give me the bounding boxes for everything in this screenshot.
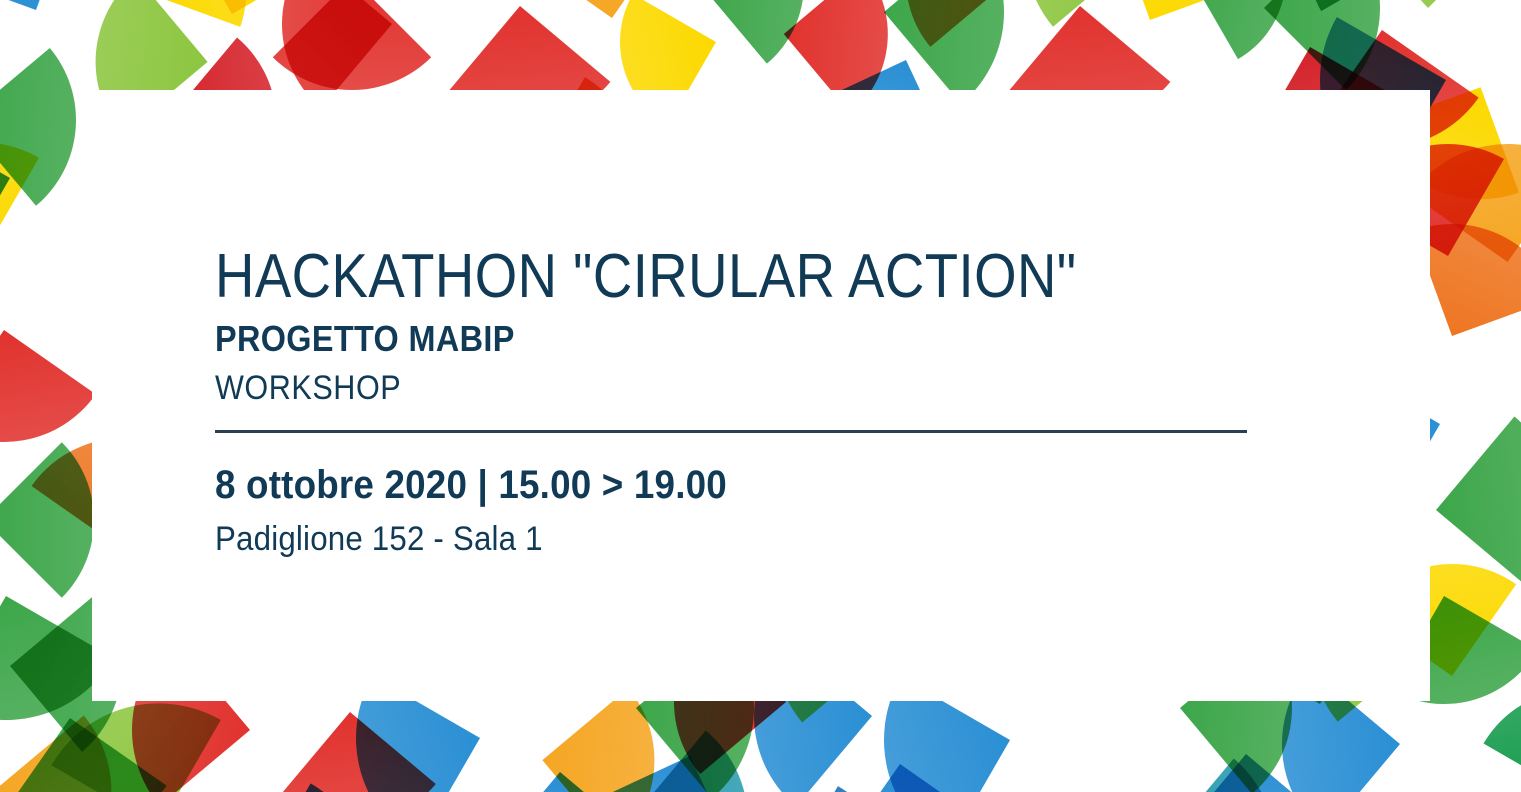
ribbon-motif [491, 772, 726, 792]
ribbon-petal [840, 764, 985, 792]
ribbon-petal [0, 0, 72, 10]
ribbon-motif [2, 718, 263, 792]
ribbon-petal [976, 0, 1145, 27]
text-block: HACKATHON "CIRULAR ACTION" PROGETTO MABI… [215, 245, 1350, 558]
ribbon-petal [542, 688, 700, 792]
ribbon-motif [435, 0, 674, 18]
ribbon-petal [599, 756, 732, 792]
ribbon-petal [173, 0, 334, 14]
ribbon-petal [863, 0, 1010, 47]
ribbon-petal [150, 0, 273, 27]
ribbon-petal [1273, 0, 1404, 11]
ribbon-petal [364, 784, 522, 792]
ribbon-petal [524, 0, 674, 18]
ribbon-motif [0, 0, 72, 10]
ribbon-motif [1190, 0, 1404, 59]
ribbon-motif [1264, 0, 1510, 90]
ribbon-petal [2, 718, 166, 792]
ribbon-petal [775, 786, 947, 792]
ribbon-petal [1190, 0, 1321, 59]
ribbon-motif [0, 40, 39, 260]
ribbon-petal [0, 715, 160, 792]
project-subtitle: PROGETTO MABIP [215, 318, 1237, 360]
content-card: HACKATHON "CIRULAR ACTION" PROGETTO MABI… [92, 90, 1430, 701]
ribbon-motif [1075, 0, 1254, 20]
ribbon-petal [1112, 0, 1253, 20]
ribbon-petal [700, 0, 847, 64]
ribbon-motif [278, 712, 522, 792]
ribbon-petal [0, 330, 96, 486]
ribbon-petal [1514, 323, 1521, 495]
ribbon-motif [840, 764, 1070, 792]
ribbon-petal [1436, 417, 1521, 589]
ribbon-petal [1174, 754, 1332, 792]
event-date-time: 8 ottobre 2020 | 15.00 > 19.00 [215, 463, 1259, 507]
ribbon-petal [1484, 650, 1521, 792]
ribbon-petal [630, 731, 796, 792]
ribbon-petal [0, 116, 10, 285]
ribbon-motif [150, 0, 306, 27]
ribbon-motif [599, 756, 774, 792]
event-type-label: WORKSHOP [215, 369, 1237, 408]
ribbon-petal [278, 712, 436, 792]
ribbon-motif [114, 0, 334, 14]
ribbon-motif [0, 116, 10, 393]
ribbon-petal [1346, 0, 1510, 8]
ribbon-petal [99, 786, 263, 792]
ribbon-petal [884, 0, 1053, 104]
ribbon-motif [1436, 323, 1521, 588]
ribbon-petal [491, 772, 643, 792]
page-title: HACKATHON "CIRULAR ACTION" [215, 245, 1214, 308]
divider [215, 430, 1247, 433]
poster-canvas: HACKATHON "CIRULAR ACTION" PROGETTO MABI… [0, 0, 1521, 792]
ribbon-petal [249, 783, 418, 792]
event-venue: Padiglione 152 - Sala 1 [215, 521, 1259, 558]
ribbon-motif [1174, 754, 1418, 792]
ribbon-petal [1158, 759, 1324, 792]
ribbon-motif [884, 0, 1145, 104]
ribbon-motif [700, 0, 926, 64]
ribbon-petal [1264, 0, 1428, 90]
ribbon-petal [0, 99, 39, 260]
